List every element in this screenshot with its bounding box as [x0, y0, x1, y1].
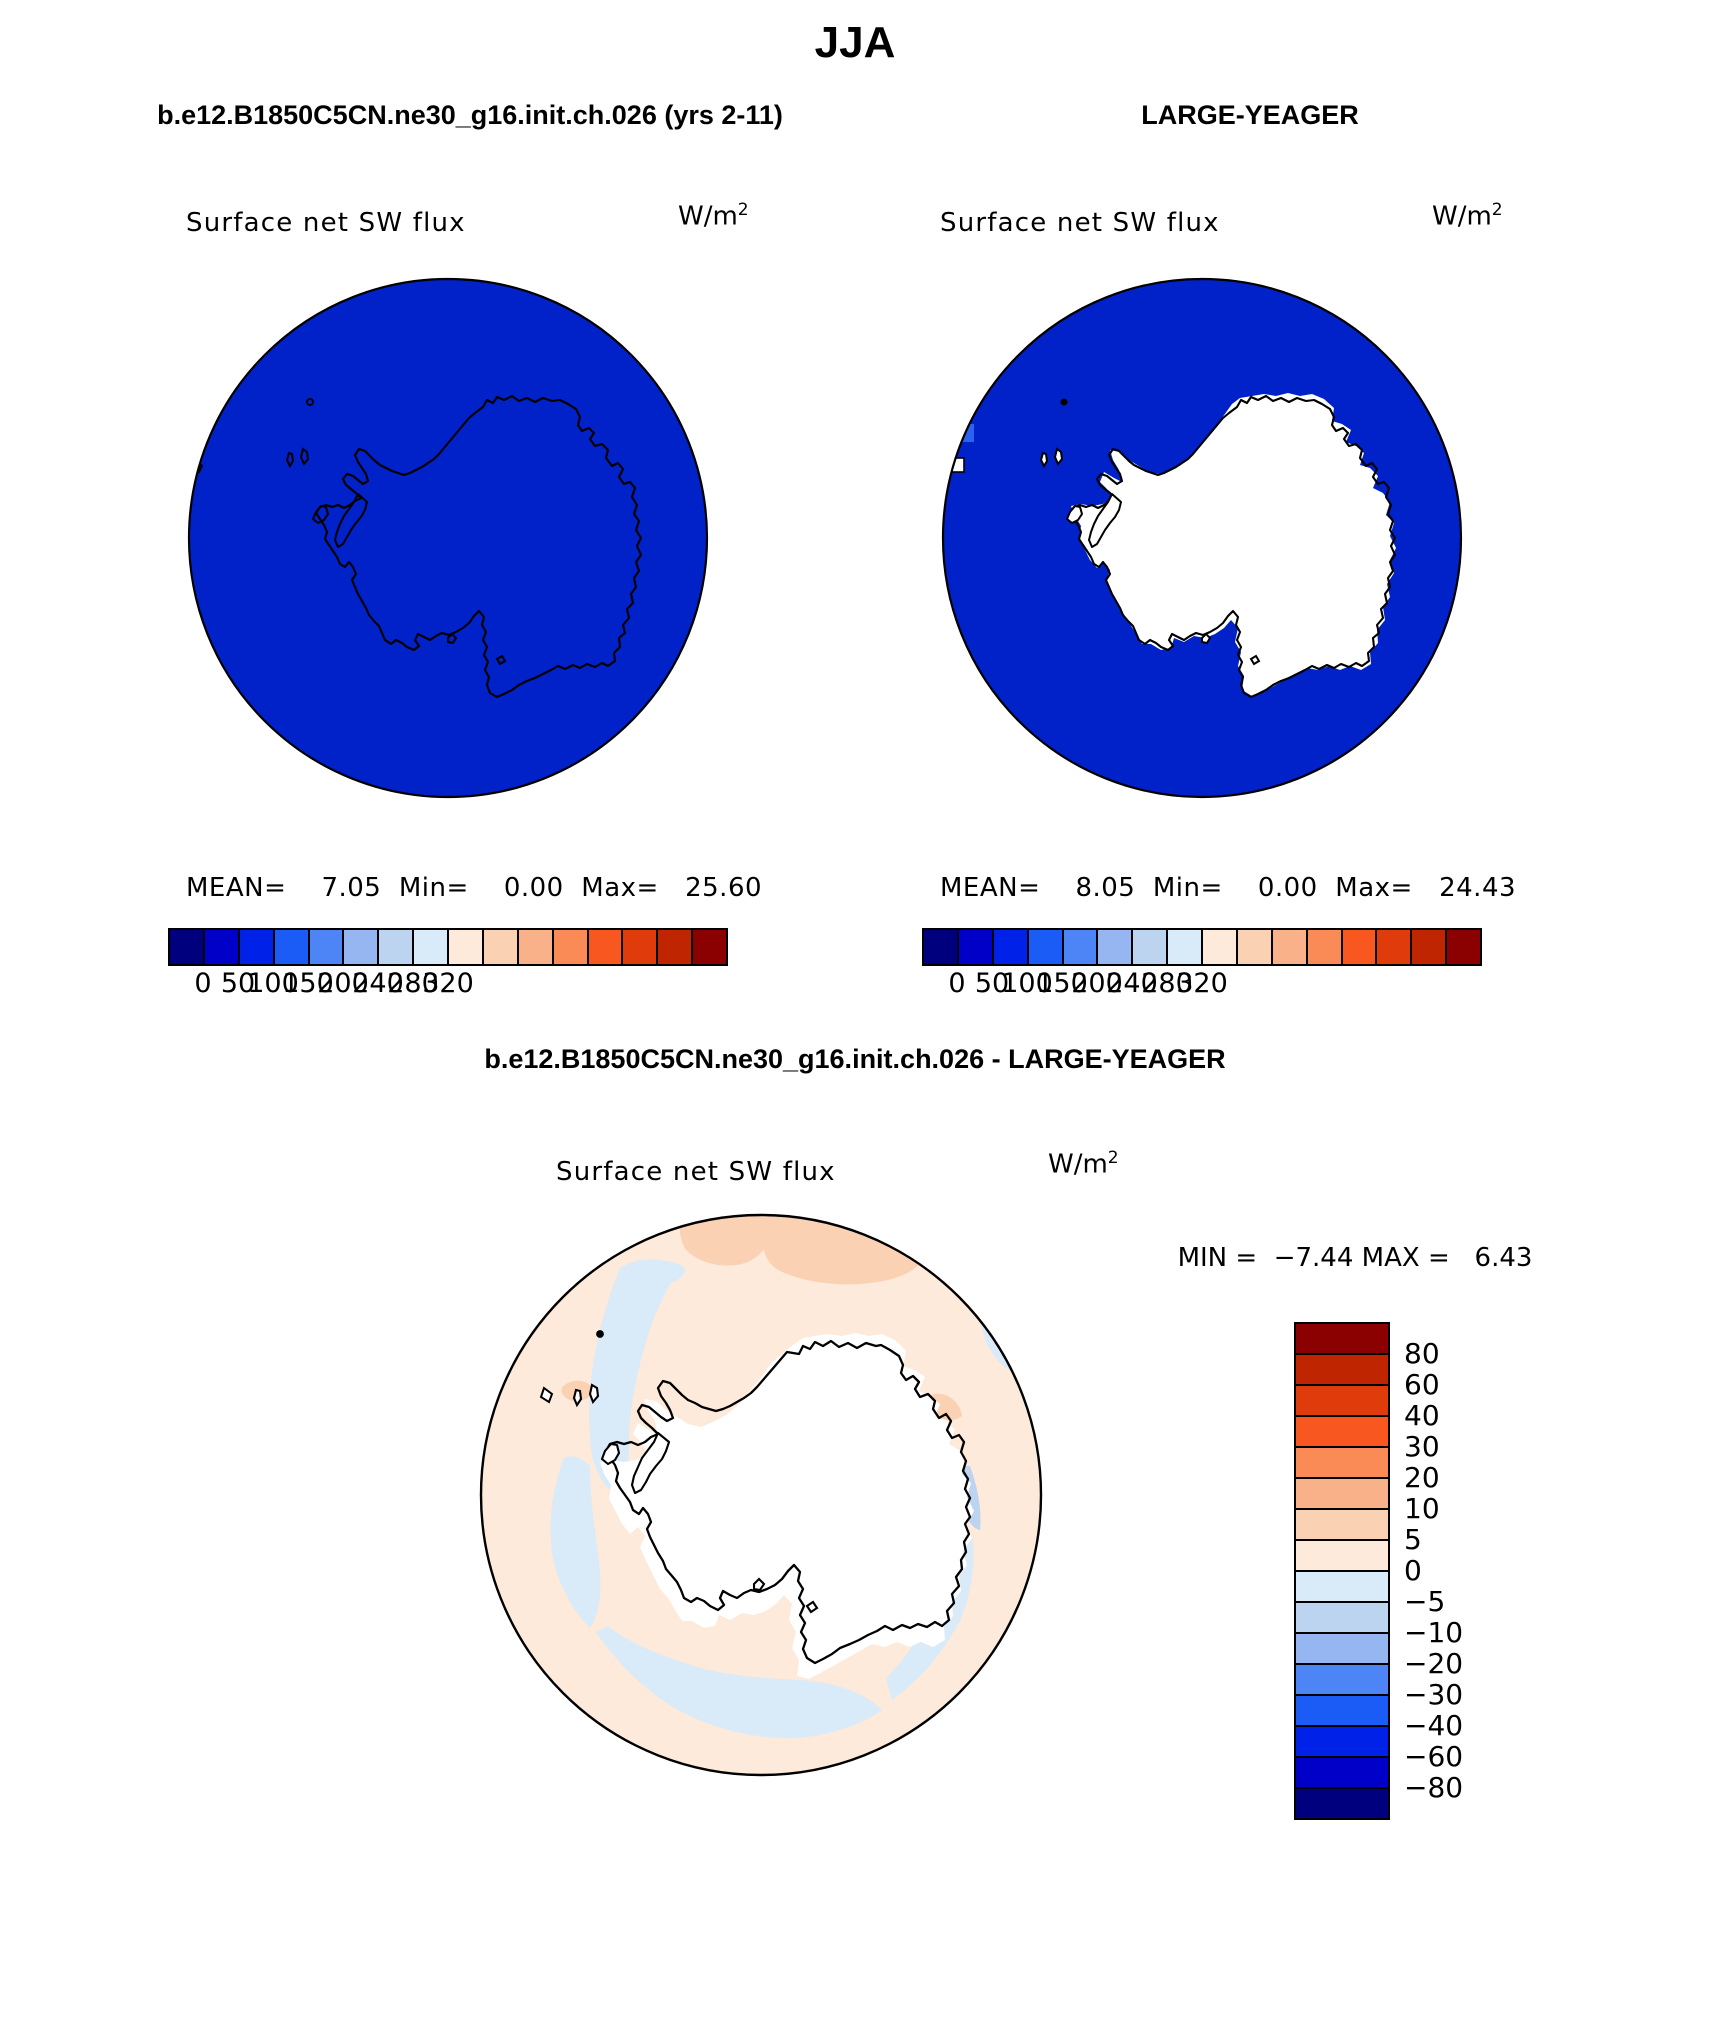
- colorbar-cell: [240, 930, 275, 964]
- colorbar-cell: [623, 930, 658, 964]
- diff-colorbar-cell: [1296, 1324, 1388, 1355]
- left-panel-case-title: b.e12.B1850C5CN.ne30_g16.init.ch.026 (yr…: [60, 100, 880, 131]
- season-title: JJA: [0, 18, 1710, 68]
- colorbar-cell: [1064, 930, 1099, 964]
- diff-colorbar-tick-label: 0: [1404, 1554, 1422, 1587]
- diff-colorbar-cell: [1296, 1386, 1388, 1417]
- diff-unit-text: W/m: [1048, 1150, 1108, 1180]
- diff-colorbar-cell: [1296, 1727, 1388, 1758]
- diff-polar-map[interactable]: [478, 1212, 1044, 1778]
- colorbar-cell: [1412, 930, 1447, 964]
- colorbar-cell: [449, 930, 484, 964]
- colorbar-cell: [1308, 930, 1343, 964]
- colorbar-cell: [379, 930, 414, 964]
- left-map-ocean-disc: [189, 279, 707, 797]
- left-panel-unit-label: W/m2: [678, 200, 749, 232]
- colorbar-cell: [693, 930, 726, 964]
- diff-colorbar-cell: [1296, 1665, 1388, 1696]
- colorbar-cell: [658, 930, 693, 964]
- colorbar-cell: [924, 930, 959, 964]
- diff-colorbar-tick-label: 60: [1404, 1368, 1440, 1401]
- right-panel-case-title: LARGE-YEAGER: [840, 100, 1660, 131]
- colorbar-cell: [554, 930, 589, 964]
- diff-polar-map-svg: [478, 1212, 1044, 1778]
- right-colorbar[interactable]: 050100150200240280320: [922, 928, 1482, 1002]
- diff-colorbar-tick-label: 20: [1404, 1461, 1440, 1494]
- diff-panel-field-label: Surface net SW flux: [556, 1157, 836, 1187]
- left-polar-map[interactable]: [186, 276, 710, 800]
- colorbar-cell: [205, 930, 240, 964]
- colorbar-cell: [994, 930, 1029, 964]
- colorbar-cell: [1029, 930, 1064, 964]
- left-unit-text: W/m: [678, 202, 738, 232]
- colorbar-cell: [1377, 930, 1412, 964]
- left-colorbar[interactable]: 050100150200240280320: [168, 928, 728, 1002]
- diff-colorbar-cell: [1296, 1572, 1388, 1603]
- diff-colorbar-tick-label: 80: [1404, 1337, 1440, 1370]
- colorbar-tick-label: 0: [948, 968, 965, 999]
- diff-colorbar-cell: [1296, 1603, 1388, 1634]
- colorbar-cell: [959, 930, 994, 964]
- diff-colorbar-tick-label: 10: [1404, 1492, 1440, 1525]
- diff-colorbar-cell: [1296, 1417, 1388, 1448]
- colorbar-tick-label: 0: [194, 968, 211, 999]
- diff-colorbar-tick-label: −20: [1404, 1647, 1463, 1680]
- diff-panel-minmax: MIN = −7.44 MAX = 6.43: [1120, 1243, 1590, 1273]
- diff-colorbar-cells: [1294, 1322, 1390, 1820]
- diff-colorbar-tick-label: −40: [1404, 1709, 1463, 1742]
- left-panel-field-label: Surface net SW flux: [186, 208, 466, 238]
- colorbar-cell: [1133, 930, 1168, 964]
- colorbar-cell: [275, 930, 310, 964]
- right-polar-map[interactable]: [940, 276, 1464, 800]
- diff-colorbar-cell: [1296, 1355, 1388, 1386]
- right-polar-map-svg: [940, 276, 1464, 800]
- colorbar-tick-label: 320: [422, 968, 474, 999]
- diff-colorbar-cell: [1296, 1696, 1388, 1727]
- diff-panel-case-title: b.e12.B1850C5CN.ne30_g16.init.ch.026 - L…: [0, 1044, 1710, 1075]
- right-panel-stats: MEAN= 8.05 Min= 0.00 Max= 24.43: [940, 873, 1464, 903]
- colorbar-cell: [310, 930, 345, 964]
- diff-colorbar-tick-label: −60: [1404, 1740, 1463, 1773]
- colorbar-cell: [1203, 930, 1238, 964]
- colorbar-tick-label: 320: [1176, 968, 1228, 999]
- diff-colorbar-tick-label: 40: [1404, 1399, 1440, 1432]
- colorbar-cell: [1273, 930, 1308, 964]
- diff-colorbar[interactable]: [1294, 1322, 1390, 1820]
- colorbar-cell: [589, 930, 624, 964]
- left-colorbar-tick-labels: 050100150200240280320: [168, 966, 728, 1002]
- colorbar-cell: [484, 930, 519, 964]
- right-panel-unit-label: W/m2: [1432, 200, 1503, 232]
- diff-colorbar-tick-label: −10: [1404, 1616, 1463, 1649]
- right-unit-exponent: 2: [1492, 200, 1503, 220]
- diff-colorbar-tick-label: −30: [1404, 1678, 1463, 1711]
- diff-colorbar-cell: [1296, 1634, 1388, 1665]
- colorbar-cell: [170, 930, 205, 964]
- colorbar-cell: [1238, 930, 1273, 964]
- diff-colorbar-tick-label: −80: [1404, 1771, 1463, 1804]
- colorbar-cell: [1447, 930, 1480, 964]
- left-panel-stats: MEAN= 7.05 Min= 0.00 Max= 25.60: [186, 873, 710, 903]
- diff-panel-unit-label: W/m2: [1048, 1148, 1119, 1180]
- colorbar-cell: [1168, 930, 1203, 964]
- right-panel-field-label: Surface net SW flux: [940, 208, 1220, 238]
- diff-unit-exponent: 2: [1108, 1148, 1119, 1168]
- colorbar-cell: [1098, 930, 1133, 964]
- diff-colorbar-cell: [1296, 1789, 1388, 1818]
- diff-colorbar-tick-label: 30: [1404, 1430, 1440, 1463]
- diff-colorbar-cell: [1296, 1510, 1388, 1541]
- colorbar-cell: [1343, 930, 1378, 964]
- right-unit-text: W/m: [1432, 202, 1492, 232]
- diff-colorbar-cell: [1296, 1448, 1388, 1479]
- diff-colorbar-cell: [1296, 1541, 1388, 1572]
- colorbar-cell: [414, 930, 449, 964]
- diff-colorbar-tick-label: 5: [1404, 1523, 1422, 1556]
- left-unit-exponent: 2: [738, 200, 749, 220]
- diff-colorbar-tick-label: −5: [1404, 1585, 1445, 1618]
- colorbar-cell: [519, 930, 554, 964]
- left-polar-map-svg: [186, 276, 710, 800]
- diff-colorbar-cell: [1296, 1758, 1388, 1789]
- colorbar-cell: [344, 930, 379, 964]
- left-colorbar-cells: [168, 928, 728, 966]
- right-colorbar-tick-labels: 050100150200240280320: [922, 966, 1482, 1002]
- diff-colorbar-cell: [1296, 1479, 1388, 1510]
- right-colorbar-cells: [922, 928, 1482, 966]
